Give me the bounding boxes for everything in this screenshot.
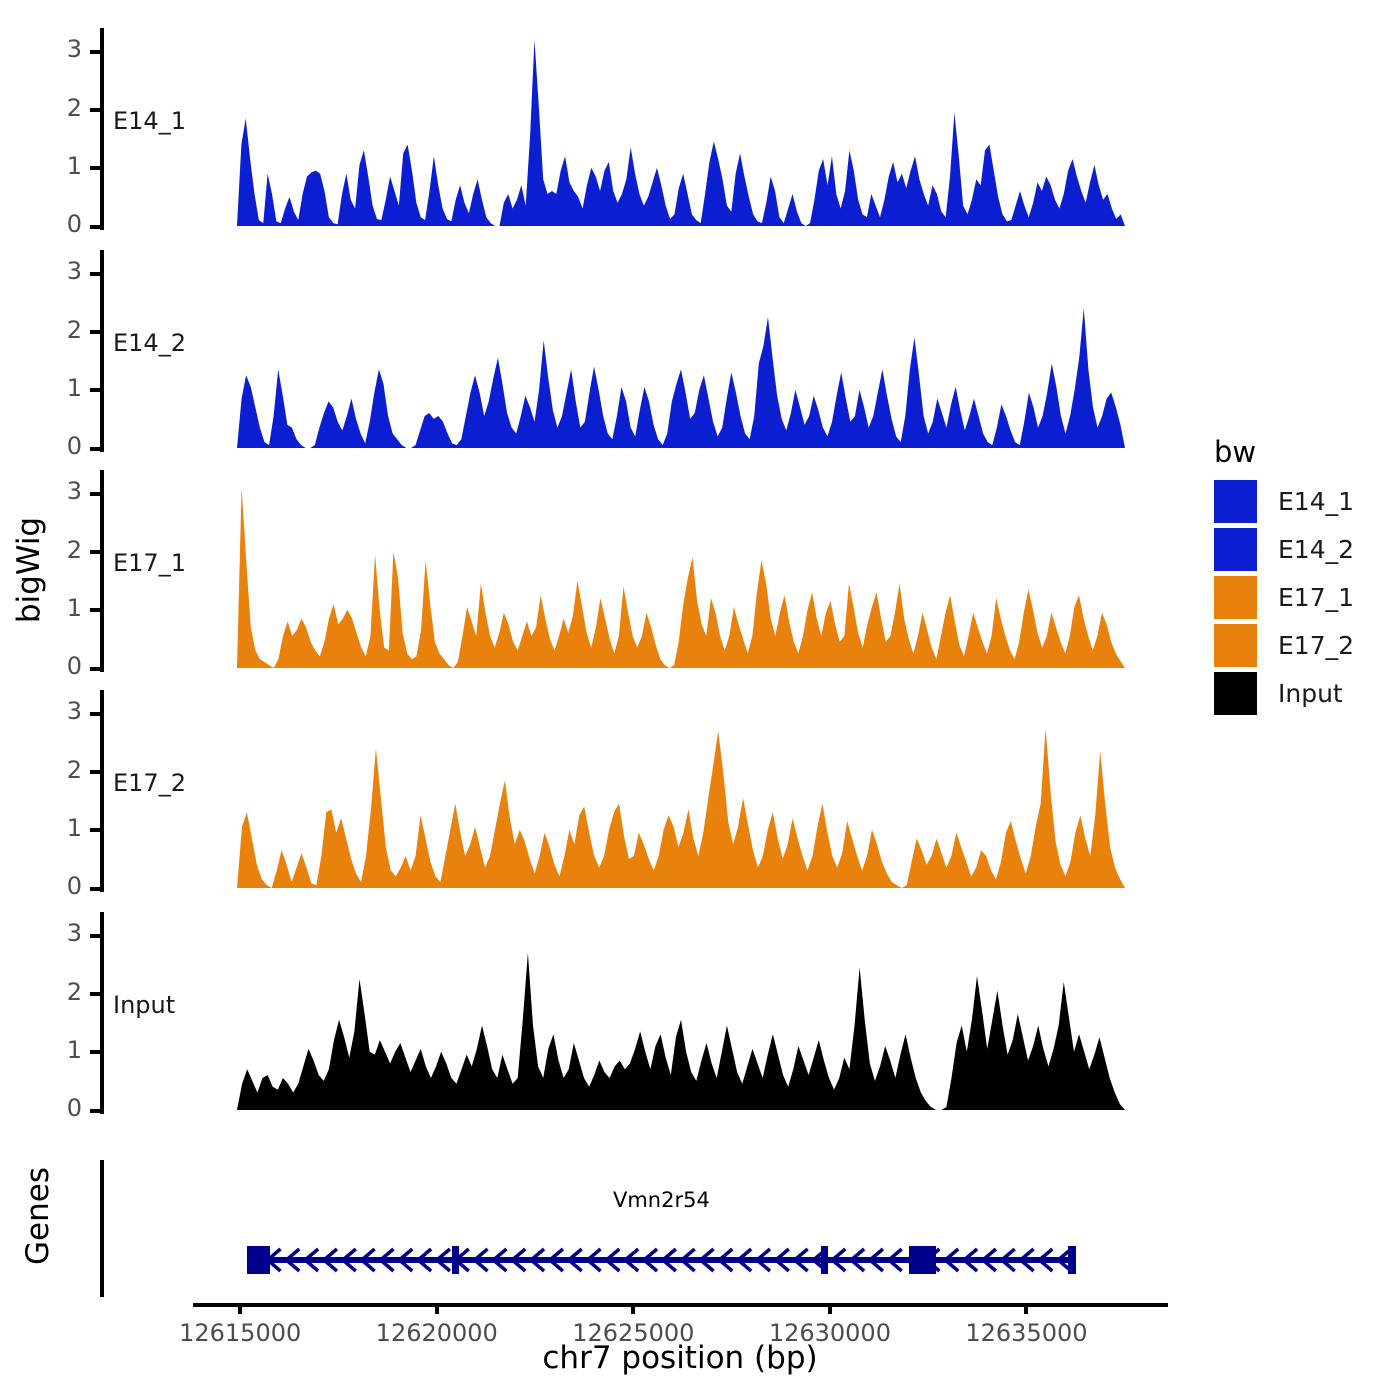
bigwig-genome-browser-figure: bigWig Genes 0123E14_10123E14_20123E17_1… bbox=[0, 0, 1400, 1400]
y-tick bbox=[90, 108, 101, 112]
track-label-e17_1: E17_1 bbox=[113, 549, 186, 577]
y-tick-label: 1 bbox=[20, 594, 82, 622]
y-tick-label: 2 bbox=[20, 978, 82, 1006]
gene-exon bbox=[909, 1246, 936, 1274]
y-tick bbox=[90, 1050, 101, 1054]
y-tick-label: 0 bbox=[20, 432, 82, 460]
gene-exon bbox=[247, 1246, 270, 1274]
y-tick bbox=[90, 447, 101, 451]
coverage-area-input bbox=[237, 912, 1125, 1112]
y-tick-label: 0 bbox=[20, 1094, 82, 1122]
legend-item-label: E17_1 bbox=[1278, 583, 1354, 612]
y-tick bbox=[90, 166, 101, 170]
y-tick bbox=[90, 550, 101, 554]
x-tick bbox=[435, 1303, 439, 1314]
gene-exon bbox=[821, 1246, 828, 1274]
track-label-e14_2: E14_2 bbox=[113, 329, 186, 357]
y-tick bbox=[90, 992, 101, 996]
y-tick bbox=[90, 388, 101, 392]
y-axis-line bbox=[100, 690, 104, 892]
legend-item-e14_2[interactable]: E14_2 bbox=[1214, 528, 1354, 571]
gene-exon bbox=[1068, 1246, 1076, 1274]
track-panel-e17_1: 0123E17_1 bbox=[0, 470, 1180, 682]
track-label-e14_1: E14_1 bbox=[113, 107, 186, 135]
legend-item-label: Input bbox=[1278, 679, 1343, 708]
x-axis-title: chr7 position (bp) bbox=[380, 1340, 980, 1376]
x-tick bbox=[1024, 1303, 1028, 1314]
y-tick bbox=[90, 712, 101, 716]
y-tick-label: 0 bbox=[20, 210, 82, 238]
y-tick-label: 3 bbox=[20, 697, 82, 725]
coverage-area-e14_1 bbox=[237, 28, 1125, 228]
x-tick bbox=[828, 1303, 832, 1314]
legend-item-e17_1[interactable]: E17_1 bbox=[1214, 576, 1354, 619]
y-tick-label: 1 bbox=[20, 374, 82, 402]
y-tick bbox=[90, 667, 101, 671]
y-tick bbox=[90, 934, 101, 938]
gene-strand-arrows bbox=[0, 1150, 1180, 1300]
legend: bw E14_1E14_2E17_1E17_2Input bbox=[1205, 425, 1400, 695]
y-tick-label: 2 bbox=[20, 536, 82, 564]
y-tick bbox=[90, 770, 101, 774]
legend-item-label: E17_2 bbox=[1278, 631, 1354, 660]
y-tick bbox=[90, 330, 101, 334]
y-tick bbox=[90, 225, 101, 229]
y-tick-label: 1 bbox=[20, 152, 82, 180]
legend-color-swatch bbox=[1214, 528, 1257, 571]
y-tick-label: 3 bbox=[20, 919, 82, 947]
track-panel-input: 0123Input bbox=[0, 912, 1180, 1124]
track-label-input: Input bbox=[113, 991, 175, 1019]
track-label-e17_2: E17_2 bbox=[113, 769, 186, 797]
y-axis-line bbox=[100, 250, 104, 452]
y-tick-label: 3 bbox=[20, 477, 82, 505]
y-tick-label: 2 bbox=[20, 316, 82, 344]
y-tick-label: 1 bbox=[20, 814, 82, 842]
coverage-area-e17_2 bbox=[237, 690, 1125, 890]
y-tick-label: 3 bbox=[20, 257, 82, 285]
x-tick bbox=[631, 1303, 635, 1314]
y-tick-label: 1 bbox=[20, 1036, 82, 1064]
legend-item-e14_1[interactable]: E14_1 bbox=[1214, 480, 1354, 523]
y-tick-label: 2 bbox=[20, 94, 82, 122]
legend-item-input[interactable]: Input bbox=[1214, 672, 1343, 715]
y-tick bbox=[90, 492, 101, 496]
legend-color-swatch bbox=[1214, 480, 1257, 523]
y-tick-label: 0 bbox=[20, 872, 82, 900]
y-axis-line bbox=[100, 470, 104, 672]
legend-color-swatch bbox=[1214, 576, 1257, 619]
y-tick-label: 0 bbox=[20, 652, 82, 680]
y-tick bbox=[90, 608, 101, 612]
y-tick bbox=[90, 1109, 101, 1113]
gene-exon bbox=[452, 1246, 459, 1274]
legend-item-label: E14_1 bbox=[1278, 487, 1354, 516]
legend-item-e17_2[interactable]: E17_2 bbox=[1214, 624, 1354, 667]
legend-color-swatch bbox=[1214, 624, 1257, 667]
legend-color-swatch bbox=[1214, 672, 1257, 715]
x-axis-line bbox=[193, 1303, 1168, 1307]
y-tick-label: 3 bbox=[20, 35, 82, 63]
y-tick bbox=[90, 50, 101, 54]
genes-panel: Vmn2r54 bbox=[0, 1150, 1180, 1300]
y-tick bbox=[90, 272, 101, 276]
track-panel-e17_2: 0123E17_2 bbox=[0, 690, 1180, 902]
coverage-area-e17_1 bbox=[237, 470, 1125, 670]
y-tick-label: 2 bbox=[20, 756, 82, 784]
legend-item-label: E14_2 bbox=[1278, 535, 1354, 564]
y-tick bbox=[90, 887, 101, 891]
y-tick bbox=[90, 828, 101, 832]
y-axis-line bbox=[100, 28, 104, 230]
y-axis-line bbox=[100, 912, 104, 1114]
x-tick bbox=[238, 1303, 242, 1314]
track-panel-e14_1: 0123E14_1 bbox=[0, 28, 1180, 240]
x-tick-label: 12615000 bbox=[140, 1319, 340, 1347]
legend-title: bw bbox=[1214, 435, 1256, 469]
track-panel-e14_2: 0123E14_2 bbox=[0, 250, 1180, 462]
coverage-area-e14_2 bbox=[237, 250, 1125, 450]
